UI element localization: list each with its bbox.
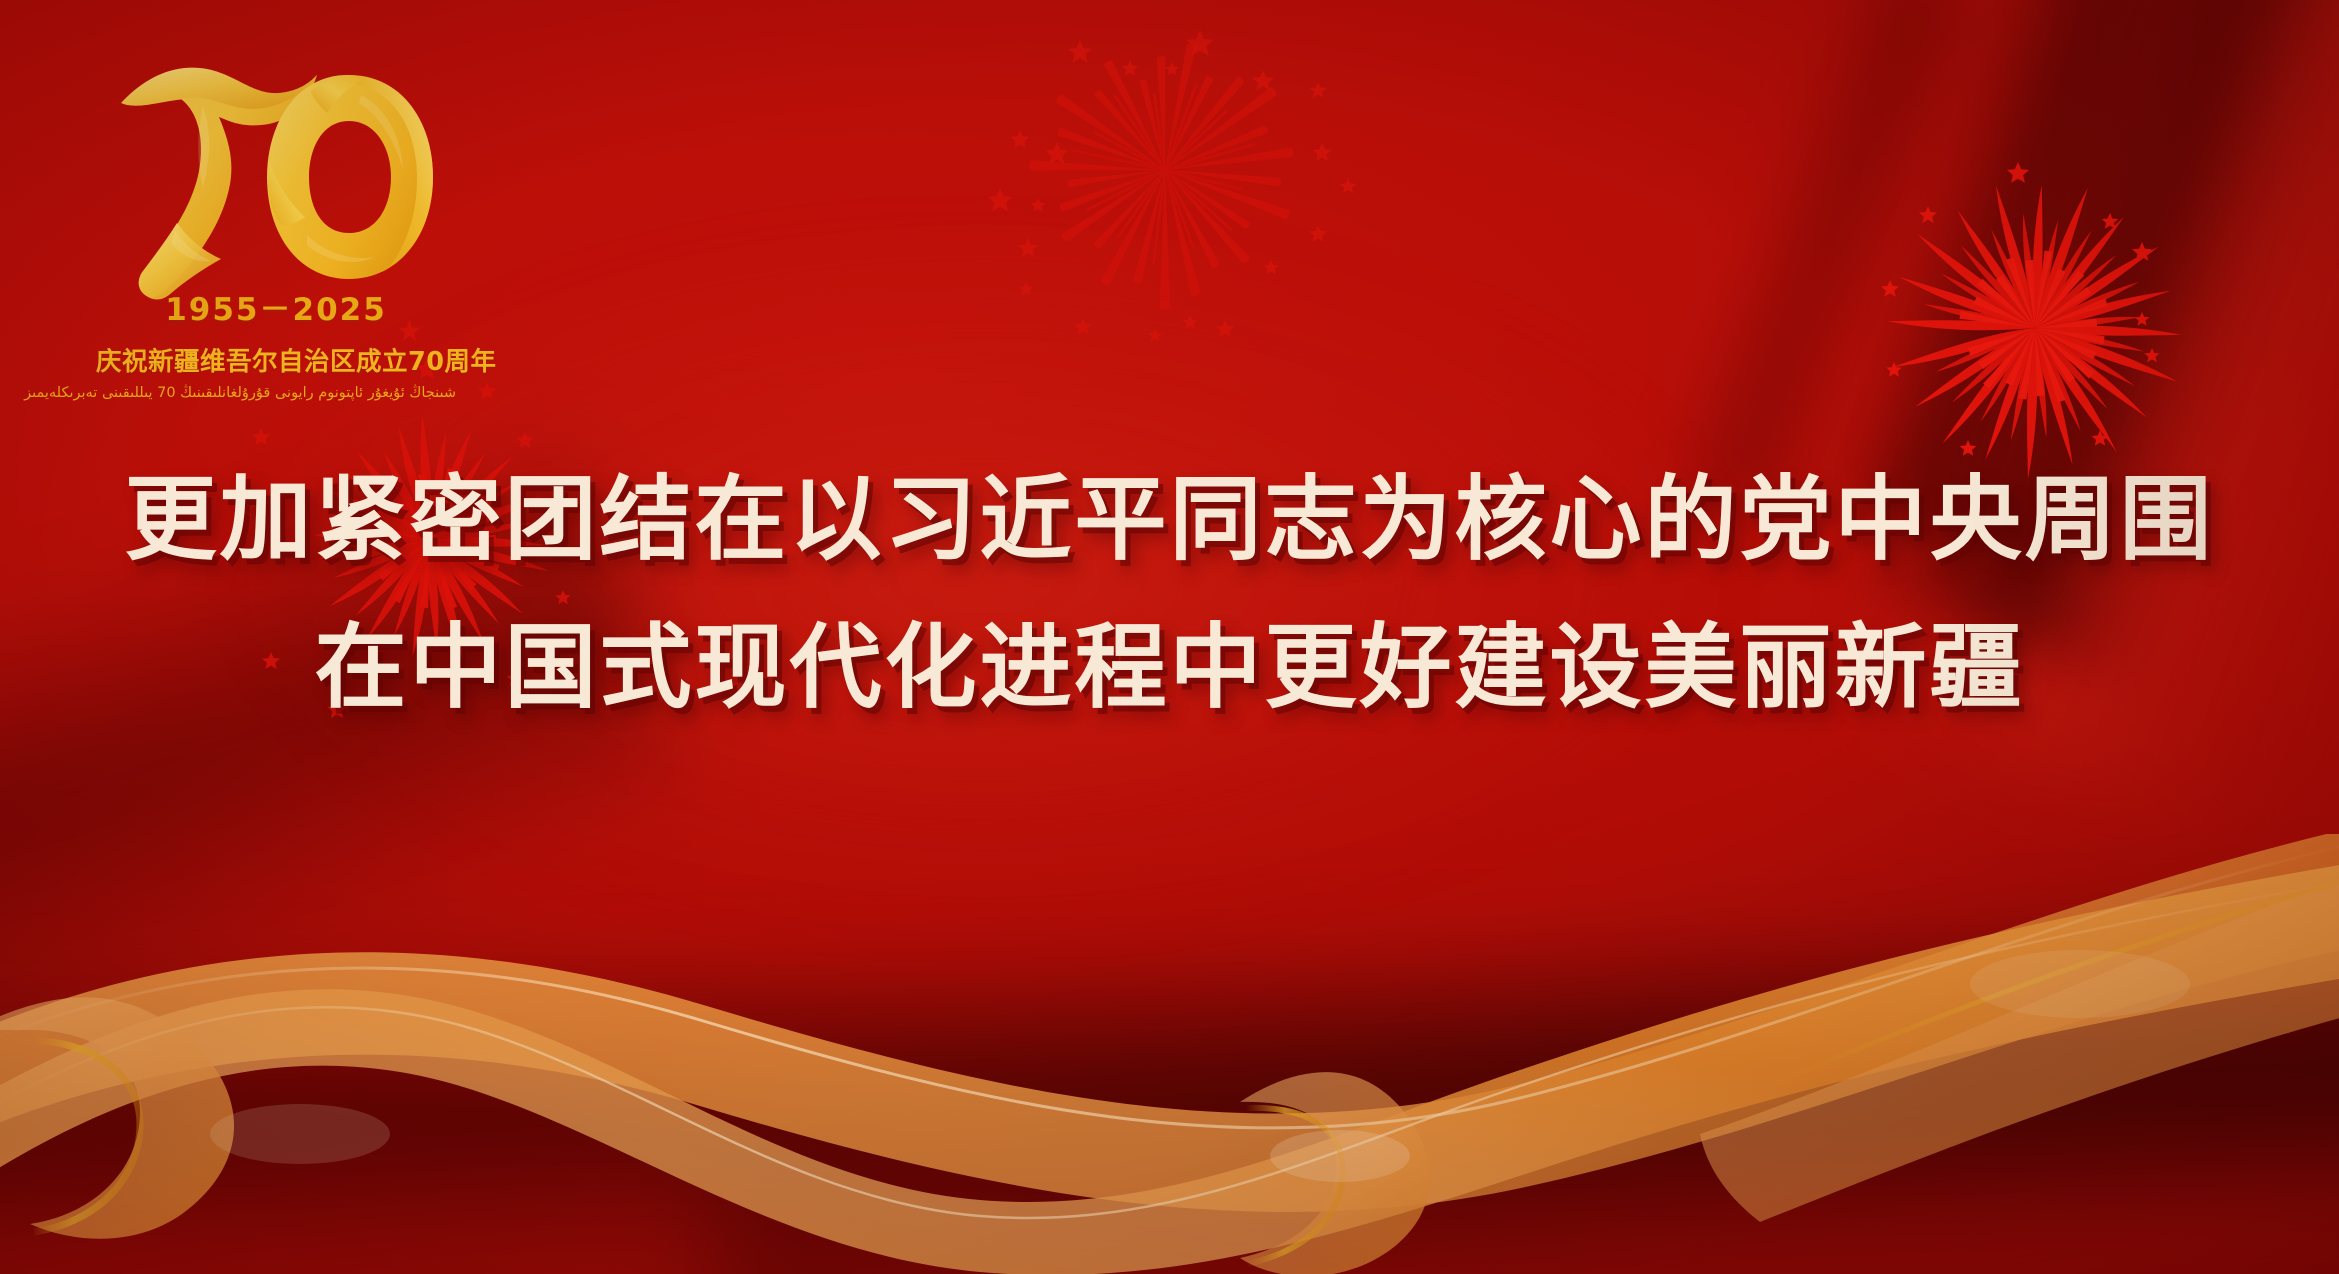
poster-vignette <box>0 0 2339 1274</box>
celebration-poster: 1955－2025 庆祝新疆维吾尔自治区成立70周年 شىنجاڭ ئۇيغۇر… <box>0 0 2339 1274</box>
